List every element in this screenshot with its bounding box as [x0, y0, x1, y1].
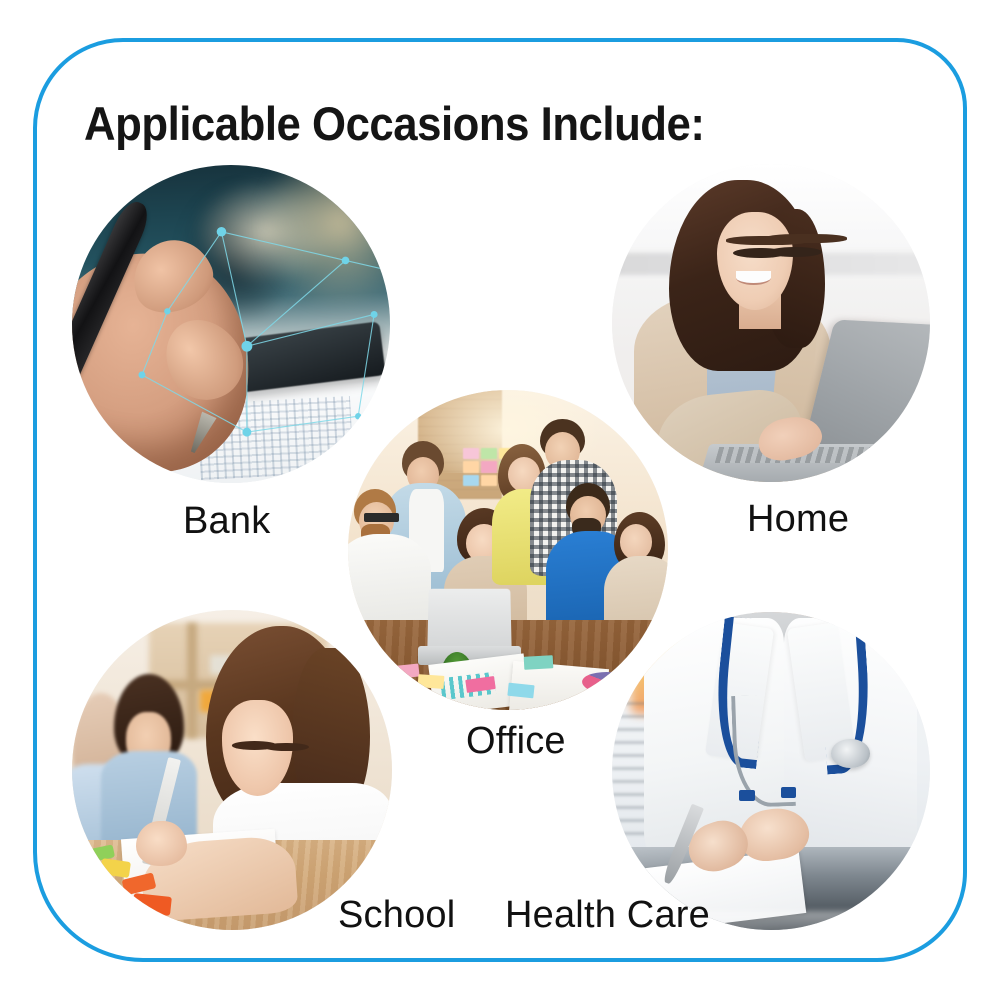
occasion-label-bank: Bank: [183, 500, 270, 543]
page-title: Applicable Occasions Include:: [84, 96, 704, 151]
network-overlay-icon: [72, 165, 390, 483]
occasion-label-home: Home: [747, 498, 849, 541]
occasion-image-school: [72, 610, 392, 930]
product-feature-graphic: Applicable Occasions Include:: [0, 0, 1000, 1000]
occasion-image-healthcare: [612, 612, 930, 930]
occasion-label-office: Office: [466, 720, 566, 763]
bank-scene: [72, 165, 390, 483]
occasion-label-healthcare: Health Care: [505, 894, 710, 937]
healthcare-scene: [612, 612, 930, 930]
school-scene: [72, 610, 392, 930]
occasion-label-school: School: [338, 894, 455, 937]
occasion-image-bank: [72, 165, 390, 483]
